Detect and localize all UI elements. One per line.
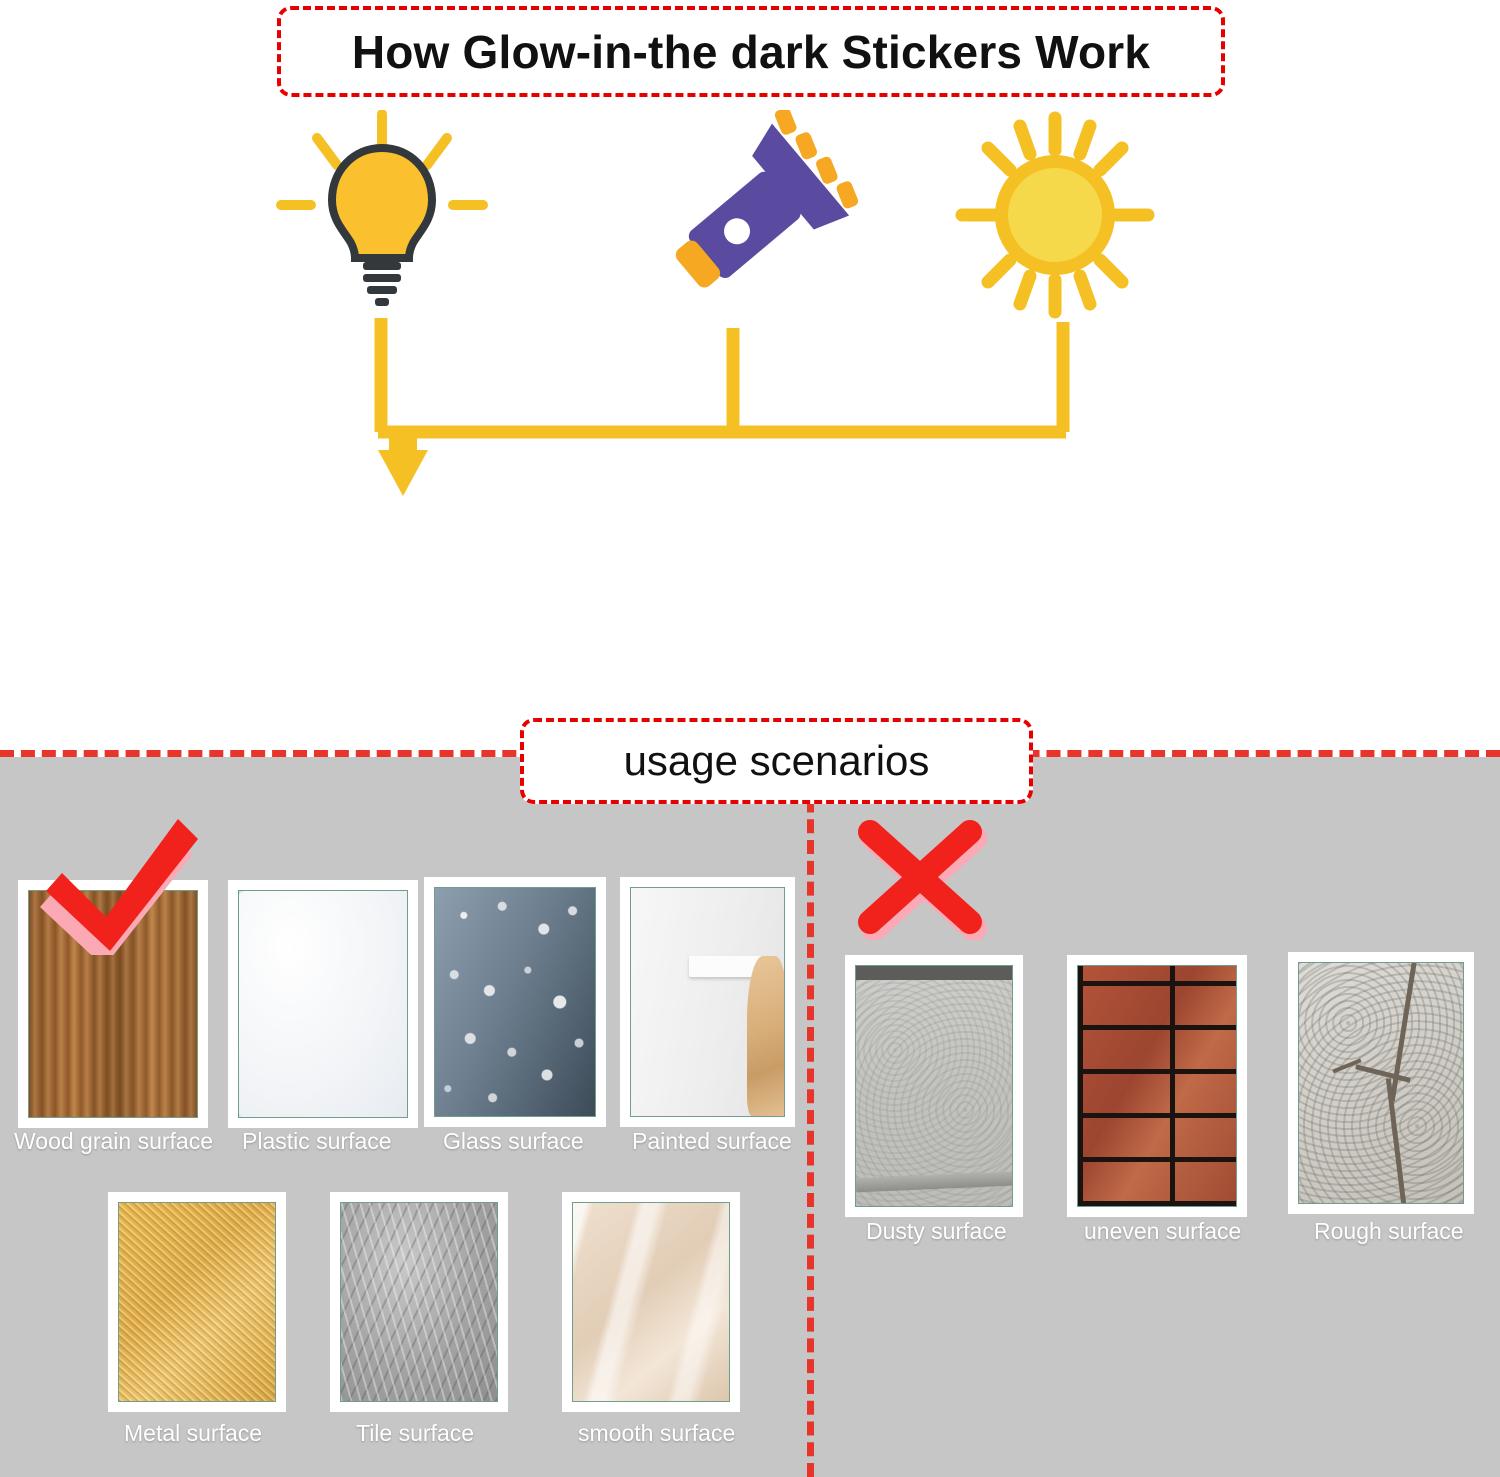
swatch-metal [108,1192,286,1412]
caption-plastic: Plastic surface [242,1128,392,1155]
caption-smooth: smooth surface [578,1420,735,1447]
dusty-texture [856,966,1012,1206]
usage-scenarios-title: usage scenarios [624,737,930,785]
usage-scenarios-banner: usage scenarios [520,718,1033,804]
caption-wood-grain: Wood grain surface [14,1128,213,1155]
swatch-dusty [845,955,1023,1217]
caption-tile: Tile surface [356,1420,474,1447]
glass-texture [435,888,595,1116]
swatch-smooth [562,1192,740,1412]
swatch-glass [424,877,606,1127]
sun-icon [940,110,1170,320]
swatch-painted [620,877,795,1127]
caption-painted: Painted surface [632,1128,792,1155]
swatch-plastic [228,880,418,1128]
page-title: How Glow-in-the dark Stickers Work [352,25,1150,79]
brick-texture [1078,966,1236,1206]
panel-vertical-dashed-divider [807,757,814,1477]
check-mark-icon [18,805,208,955]
painted-texture [631,888,784,1116]
rough-texture [1299,963,1463,1203]
caption-uneven: uneven surface [1084,1218,1241,1245]
title-banner: How Glow-in-the dark Stickers Work [277,6,1225,97]
flashlight-icon [630,110,860,320]
caption-glass: Glass surface [443,1128,584,1155]
caption-rough: Rough surface [1314,1218,1464,1245]
lightbulb-icon [267,110,497,320]
sticker-transformation-row [0,455,1500,715]
swatch-rough [1288,952,1474,1214]
crack-line [1355,1064,1410,1082]
tile-texture [341,1203,497,1401]
x-mark-icon [852,818,992,940]
caption-dusty: Dusty surface [866,1218,1007,1245]
hanging-towel [747,956,785,1116]
swatch-uneven [1067,955,1247,1217]
swatch-tile [330,1192,508,1412]
metal-texture [119,1203,275,1401]
crack-line [1386,1078,1407,1204]
light-sources-row [0,110,1500,320]
caption-metal: Metal surface [124,1420,262,1447]
smooth-texture [573,1203,729,1401]
plastic-texture [239,891,407,1117]
